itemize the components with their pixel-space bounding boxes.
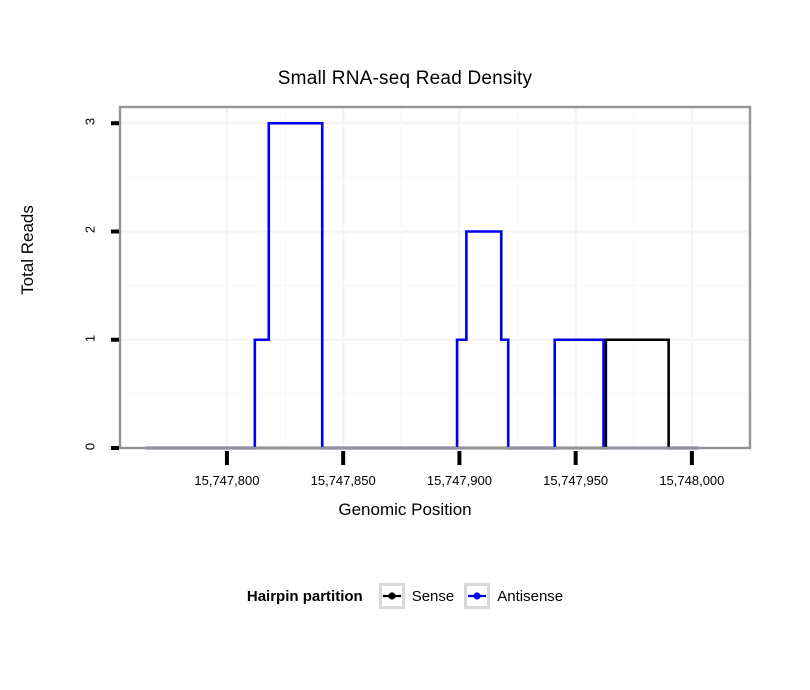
- legend-key-antisense-icon: [464, 583, 490, 609]
- legend-key-sense-icon: [379, 583, 405, 609]
- chart-legend: Hairpin partition Sense Antisense: [0, 583, 810, 609]
- legend-label-antisense: Antisense: [497, 588, 563, 605]
- x-axis-label: Genomic Position: [0, 500, 810, 520]
- panel-background: [120, 107, 750, 448]
- plot-area: [0, 0, 810, 500]
- legend-label-sense: Sense: [412, 588, 455, 605]
- legend-item-sense[interactable]: Sense: [379, 583, 455, 609]
- legend-title: Hairpin partition: [247, 588, 363, 605]
- chart-root: Small RNA-seq Read Density Total Reads 0…: [0, 0, 810, 690]
- legend-item-antisense[interactable]: Antisense: [464, 583, 563, 609]
